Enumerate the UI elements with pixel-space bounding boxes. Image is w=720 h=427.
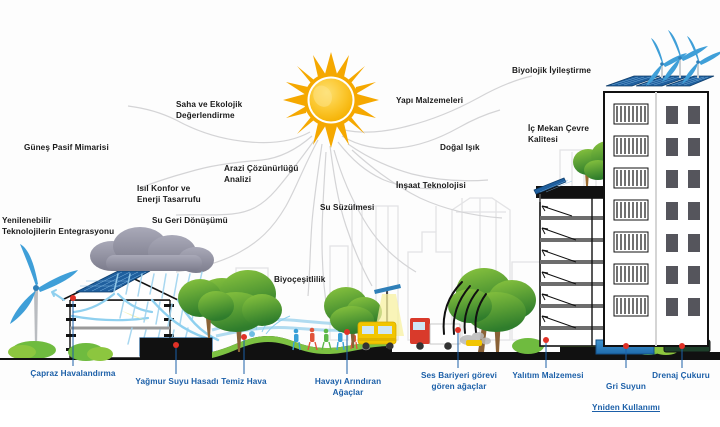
label-su-suzulmesi: Su Süzülmesi — [320, 203, 410, 214]
label-biyolojik-iyilestirme: Biyolojik İyileştirme — [512, 66, 624, 77]
label-yenilenebilir-teknolojiler: Yenilenebilir Teknolojilerin Entegrasyon… — [2, 216, 136, 237]
gri-suyun-line2: Yniden Kullanımı — [592, 403, 660, 412]
label-havayi-arindiran-agaclar: Havayı Arındıran Ağaçlar — [303, 377, 393, 398]
label-isil-konfor: Isıl Konfor ve Enerji Tasarrufu — [137, 184, 241, 205]
high-rise-tower — [604, 30, 720, 346]
label-su-geri-donusumu: Su Geri Dönüşümü — [152, 216, 262, 227]
label-gunes-pasif-mimarisi: Güneş Pasif Mimarisi — [24, 143, 154, 154]
label-yapi-malzemeleri: Yapı Malzemeleri — [396, 96, 496, 107]
label-ic-mekan-cevre-kalitesi: İç Mekan Çevre Kalitesi — [528, 124, 632, 145]
label-yalitim-malzemesi: Yalıtım Malzemesi — [500, 371, 596, 382]
label-capraz-havalandirma: Çapraz Havalandırma — [14, 369, 132, 380]
label-biyocesitlilik: Biyoçeşitlilik — [274, 275, 358, 286]
label-temiz-hava: Temiz Hava — [210, 377, 278, 388]
label-insaat-teknolojisi: İnşaat Teknolojisi — [396, 181, 500, 192]
label-dogal-isik: Doğal Işık — [440, 143, 510, 154]
label-arazi-cozunurlugu-analizi: Arazi Çözünürlüğü Analizi — [224, 164, 334, 185]
label-ses-bariyeri-agaclar: Ses Bariyeri görevi gören ağaçlar — [406, 371, 512, 392]
sun-icon — [283, 52, 379, 148]
label-saha-ve-ekolojik-degerlendirme: Saha ve Ekolojik Değerlendirme — [176, 100, 288, 121]
infographic-canvas: Güneş Pasif Mimarisi Yenilenebilir Tekno… — [0, 0, 720, 427]
gri-suyun-line1: Gri Suyun — [606, 382, 646, 391]
label-drenaj-cukuru: Drenaj Çukuru — [644, 371, 718, 382]
wind-turbine-icon — [8, 244, 78, 359]
background-layer — [0, 0, 720, 427]
